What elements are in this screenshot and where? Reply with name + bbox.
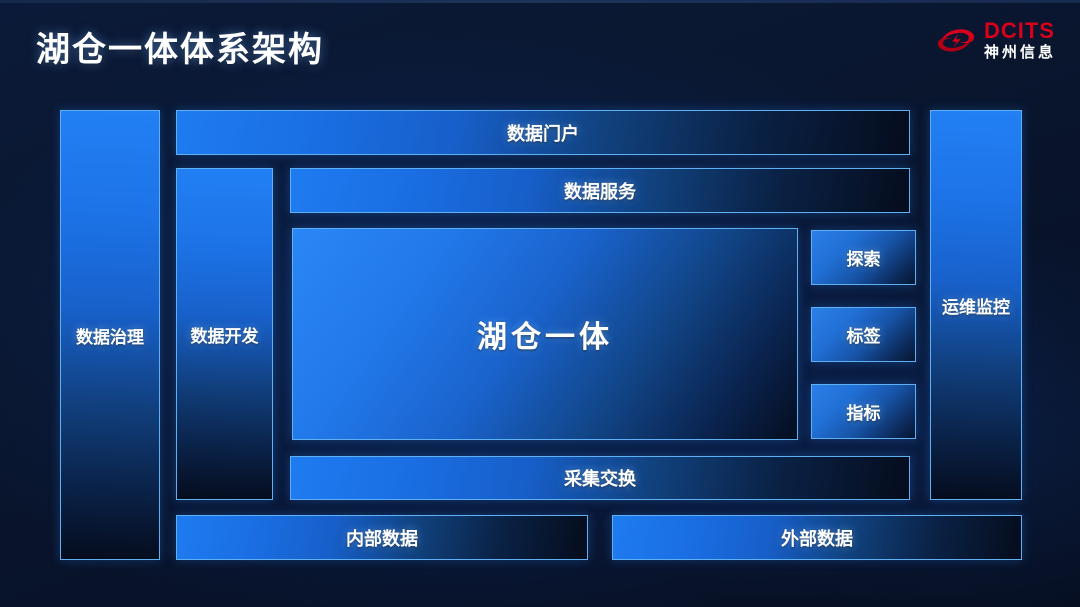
brand-logo: DCITS 神州信息: [934, 20, 1056, 60]
swirl-logo-icon: [934, 20, 978, 60]
panel-lakehouse-label: 湖仓一体: [477, 312, 613, 356]
panel-lakehouse[interactable]: 湖仓一体: [292, 228, 798, 440]
panel-collect-exchange[interactable]: 采集交换: [290, 456, 910, 500]
panel-explore-label: 探索: [847, 245, 881, 270]
panel-explore[interactable]: 探索: [811, 230, 916, 285]
panel-collect-exchange-label: 采集交换: [564, 465, 636, 491]
brand-name-en: DCITS: [984, 20, 1056, 42]
panel-data-service-label: 数据服务: [564, 178, 636, 204]
panel-external-data[interactable]: 外部数据: [612, 515, 1022, 560]
page-title: 湖仓一体体系架构: [36, 22, 324, 71]
panel-data-service[interactable]: 数据服务: [290, 168, 910, 213]
panel-ops-monitoring-label: 运维监控: [942, 293, 1010, 318]
panel-ops-monitoring[interactable]: 运维监控: [930, 110, 1022, 500]
panel-data-governance-label: 数据治理: [76, 323, 144, 348]
panel-data-portal[interactable]: 数据门户: [176, 110, 910, 155]
panel-tags[interactable]: 标签: [811, 307, 916, 362]
brand-text: DCITS 神州信息: [984, 20, 1056, 60]
panel-metrics[interactable]: 指标: [811, 384, 916, 439]
panel-internal-data[interactable]: 内部数据: [176, 515, 588, 560]
panel-metrics-label: 指标: [847, 399, 881, 424]
brand-name-cn: 神州信息: [984, 45, 1056, 60]
panel-data-governance[interactable]: 数据治理: [60, 110, 160, 560]
panel-internal-data-label: 内部数据: [346, 525, 418, 551]
panel-tags-label: 标签: [847, 322, 881, 347]
panel-data-development[interactable]: 数据开发: [176, 168, 273, 500]
panel-external-data-label: 外部数据: [781, 525, 853, 551]
panel-data-development-label: 数据开发: [191, 322, 259, 347]
architecture-slide: 湖仓一体体系架构 DCITS 神州信息 数据治理 运维监控 数据门户 数据开发 …: [0, 0, 1080, 607]
panel-data-portal-label: 数据门户: [507, 120, 579, 146]
